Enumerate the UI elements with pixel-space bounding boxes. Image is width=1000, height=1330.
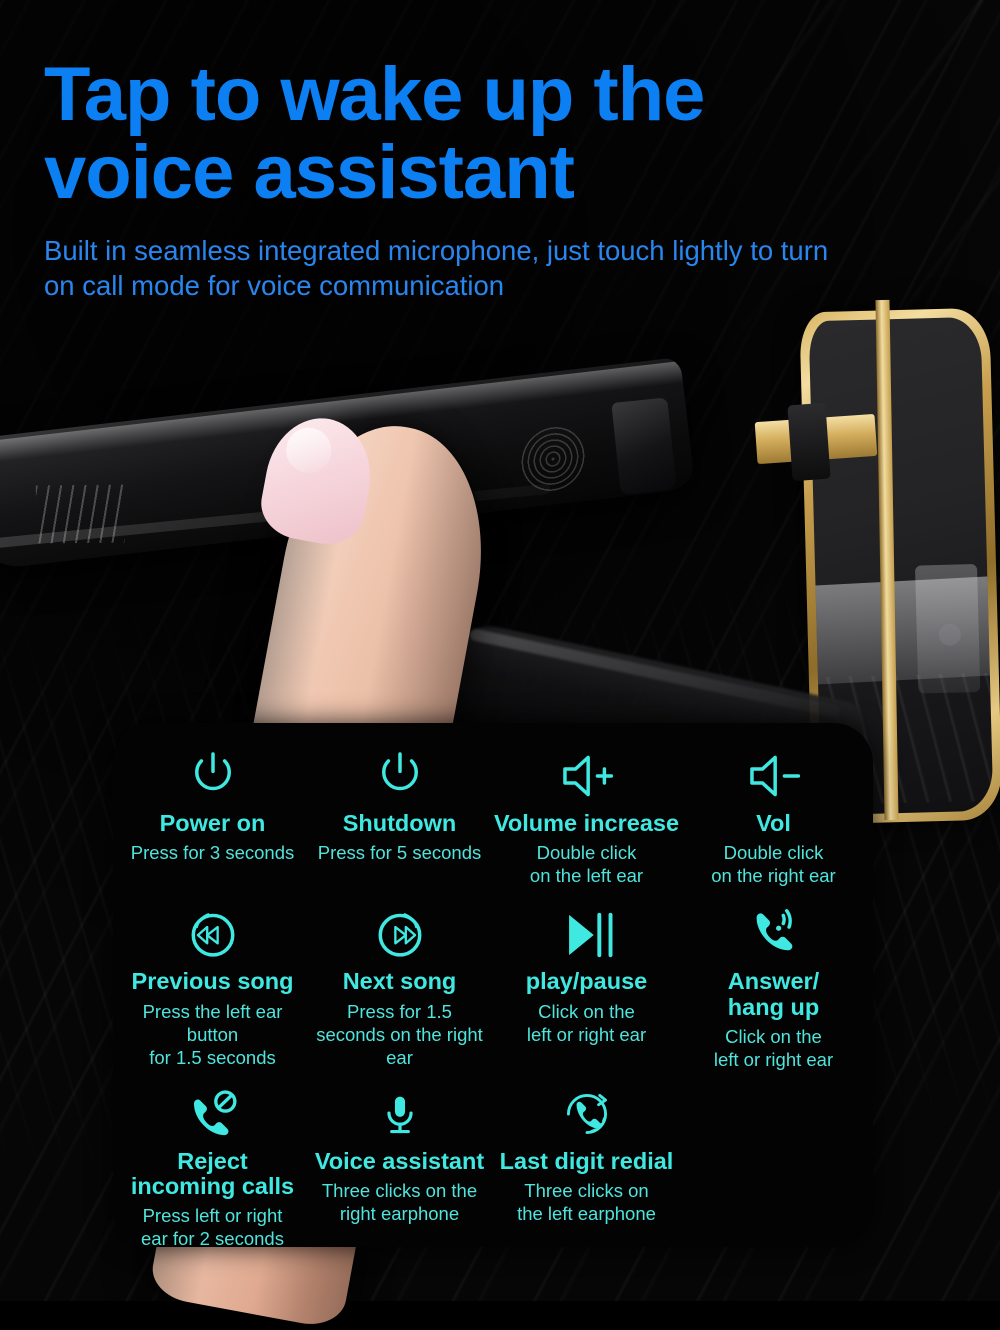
redial-icon xyxy=(558,1081,616,1143)
control-item-previous-song: Previous songPress the left ear buttonfo… xyxy=(119,901,306,1071)
control-item-reject-incoming-calls: Rejectincoming callsPress left or righte… xyxy=(119,1081,306,1251)
answer-call-icon xyxy=(744,901,804,963)
control-title: Rejectincoming calls xyxy=(131,1149,294,1199)
control-title: Volume increase xyxy=(494,811,679,836)
control-title: Last digit redial xyxy=(500,1149,674,1174)
control-description: Three clicks on theright earphone xyxy=(322,1179,477,1225)
control-description: Press for 5 seconds xyxy=(318,841,482,864)
page-subtitle: Built in seamless integrated microphone,… xyxy=(44,233,864,303)
control-item-volume-increase: Volume increaseDouble clickon the left e… xyxy=(493,743,680,887)
control-description: Click on theleft or right ear xyxy=(714,1025,833,1071)
control-title: Answer/hang up xyxy=(728,969,819,1019)
control-item-voice-assistant: Voice assistantThree clicks on theright … xyxy=(306,1081,493,1251)
control-title: Previous song xyxy=(132,969,294,994)
control-guide-card: Power onPress for 3 secondsShutdownPress… xyxy=(113,723,873,1247)
lens-highlight-dot xyxy=(939,624,962,647)
control-description: Double clickon the right ear xyxy=(711,841,835,887)
control-item-next-song: Next songPress for 1.5seconds on the rig… xyxy=(306,901,493,1071)
microphone-icon xyxy=(377,1081,423,1143)
power-icon xyxy=(371,743,429,805)
control-item-play-pause: play/pauseClick on theleft or right ear xyxy=(493,901,680,1071)
control-title: Voice assistant xyxy=(315,1149,484,1174)
control-title: Power on xyxy=(160,811,266,836)
control-description: Press the left ear buttonfor 1.5 seconds xyxy=(122,1000,303,1069)
play-pause-icon xyxy=(556,901,618,963)
previous-track-icon xyxy=(184,901,242,963)
control-title: Shutdown xyxy=(343,811,457,836)
control-title: play/pause xyxy=(526,969,647,994)
control-row: Power onPress for 3 secondsShutdownPress… xyxy=(119,743,867,887)
control-item-answer-hang-up: Answer/hang upClick on theleft or right … xyxy=(680,901,867,1071)
control-item-shutdown: ShutdownPress for 5 seconds xyxy=(306,743,493,887)
control-row: Previous songPress the left ear buttonfo… xyxy=(119,901,867,1071)
control-description: Double clickon the left ear xyxy=(530,841,643,887)
control-description: Press for 1.5seconds on the right ear xyxy=(309,1000,490,1069)
control-description: Three clicks onthe left earphone xyxy=(517,1179,656,1225)
headline-block: Tap to wake up the voice assistant Built… xyxy=(0,0,1000,303)
temple-end-cap xyxy=(611,397,676,494)
reject-call-icon xyxy=(185,1081,241,1143)
control-item-vol: VolDouble clickon the right ear xyxy=(680,743,867,887)
volume-up-icon xyxy=(554,743,620,805)
control-row: Rejectincoming callsPress left or righte… xyxy=(119,1081,867,1251)
power-icon xyxy=(184,743,242,805)
control-description: Click on theleft or right ear xyxy=(527,1000,646,1046)
volume-down-icon xyxy=(741,743,807,805)
page-title: Tap to wake up the voice assistant xyxy=(44,56,874,211)
control-title: Vol xyxy=(756,811,791,836)
hinge-block xyxy=(787,403,830,481)
control-description: Press for 3 seconds xyxy=(131,841,295,864)
control-description: Press left or rightear for 2 seconds xyxy=(141,1204,284,1250)
control-item-power-on: Power onPress for 3 seconds xyxy=(119,743,306,887)
next-track-icon xyxy=(371,901,429,963)
control-title: Next song xyxy=(343,969,457,994)
control-item-last-digit-redial: Last digit redialThree clicks onthe left… xyxy=(493,1081,680,1251)
temple-speaker-vents xyxy=(36,485,125,544)
